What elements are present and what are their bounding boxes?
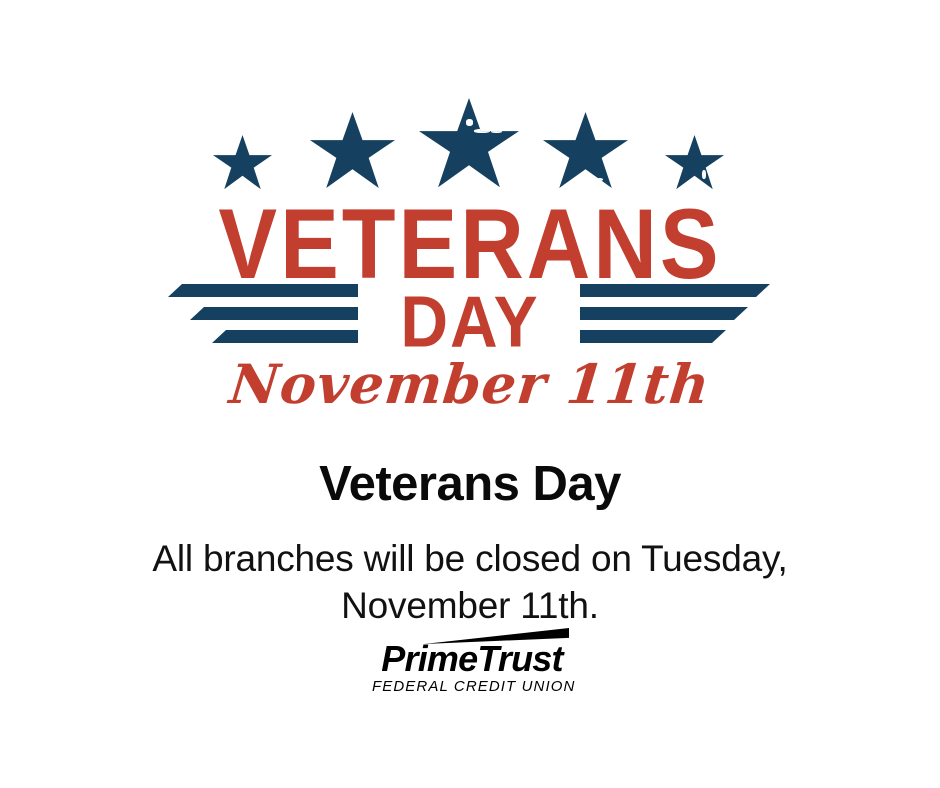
veterans-day-emblem: VETERANS DAY November 11th (0, 96, 940, 426)
distress-fleck (459, 106, 464, 113)
star-icon (213, 135, 272, 192)
star-row (0, 96, 940, 192)
veterans-day-announcement-poster: VETERANS DAY November 11th Veterans Day … (0, 0, 940, 788)
distress-fleck (466, 119, 473, 126)
emblem-title-day: DAY (0, 285, 940, 358)
stripe-bar (580, 307, 748, 320)
star-icon (310, 112, 395, 192)
distress-fleck (491, 130, 502, 133)
closure-notice-text: All branches will be closed on Tuesday, … (70, 535, 870, 629)
emblem-title-veterans: VETERANS (0, 194, 940, 293)
stripe-group-right (580, 282, 770, 362)
star-icon (665, 135, 724, 192)
distress-fleck (702, 170, 706, 179)
star-icon (543, 112, 628, 192)
distress-fleck (474, 129, 490, 133)
logo-brand-name: PrimeTrust (372, 640, 572, 678)
page-title: Veterans Day (0, 455, 940, 513)
distress-fleck (594, 178, 603, 181)
logo-tagline: FEDERAL CREDIT UNION (372, 678, 572, 695)
stripe-bar (580, 330, 726, 343)
star-icon (419, 98, 519, 192)
stripe-bar (580, 284, 770, 297)
emblem-date-script: November 11th (0, 354, 940, 414)
primetrust-logo: PrimeTrust FEDERAL CREDIT UNION (372, 628, 572, 700)
